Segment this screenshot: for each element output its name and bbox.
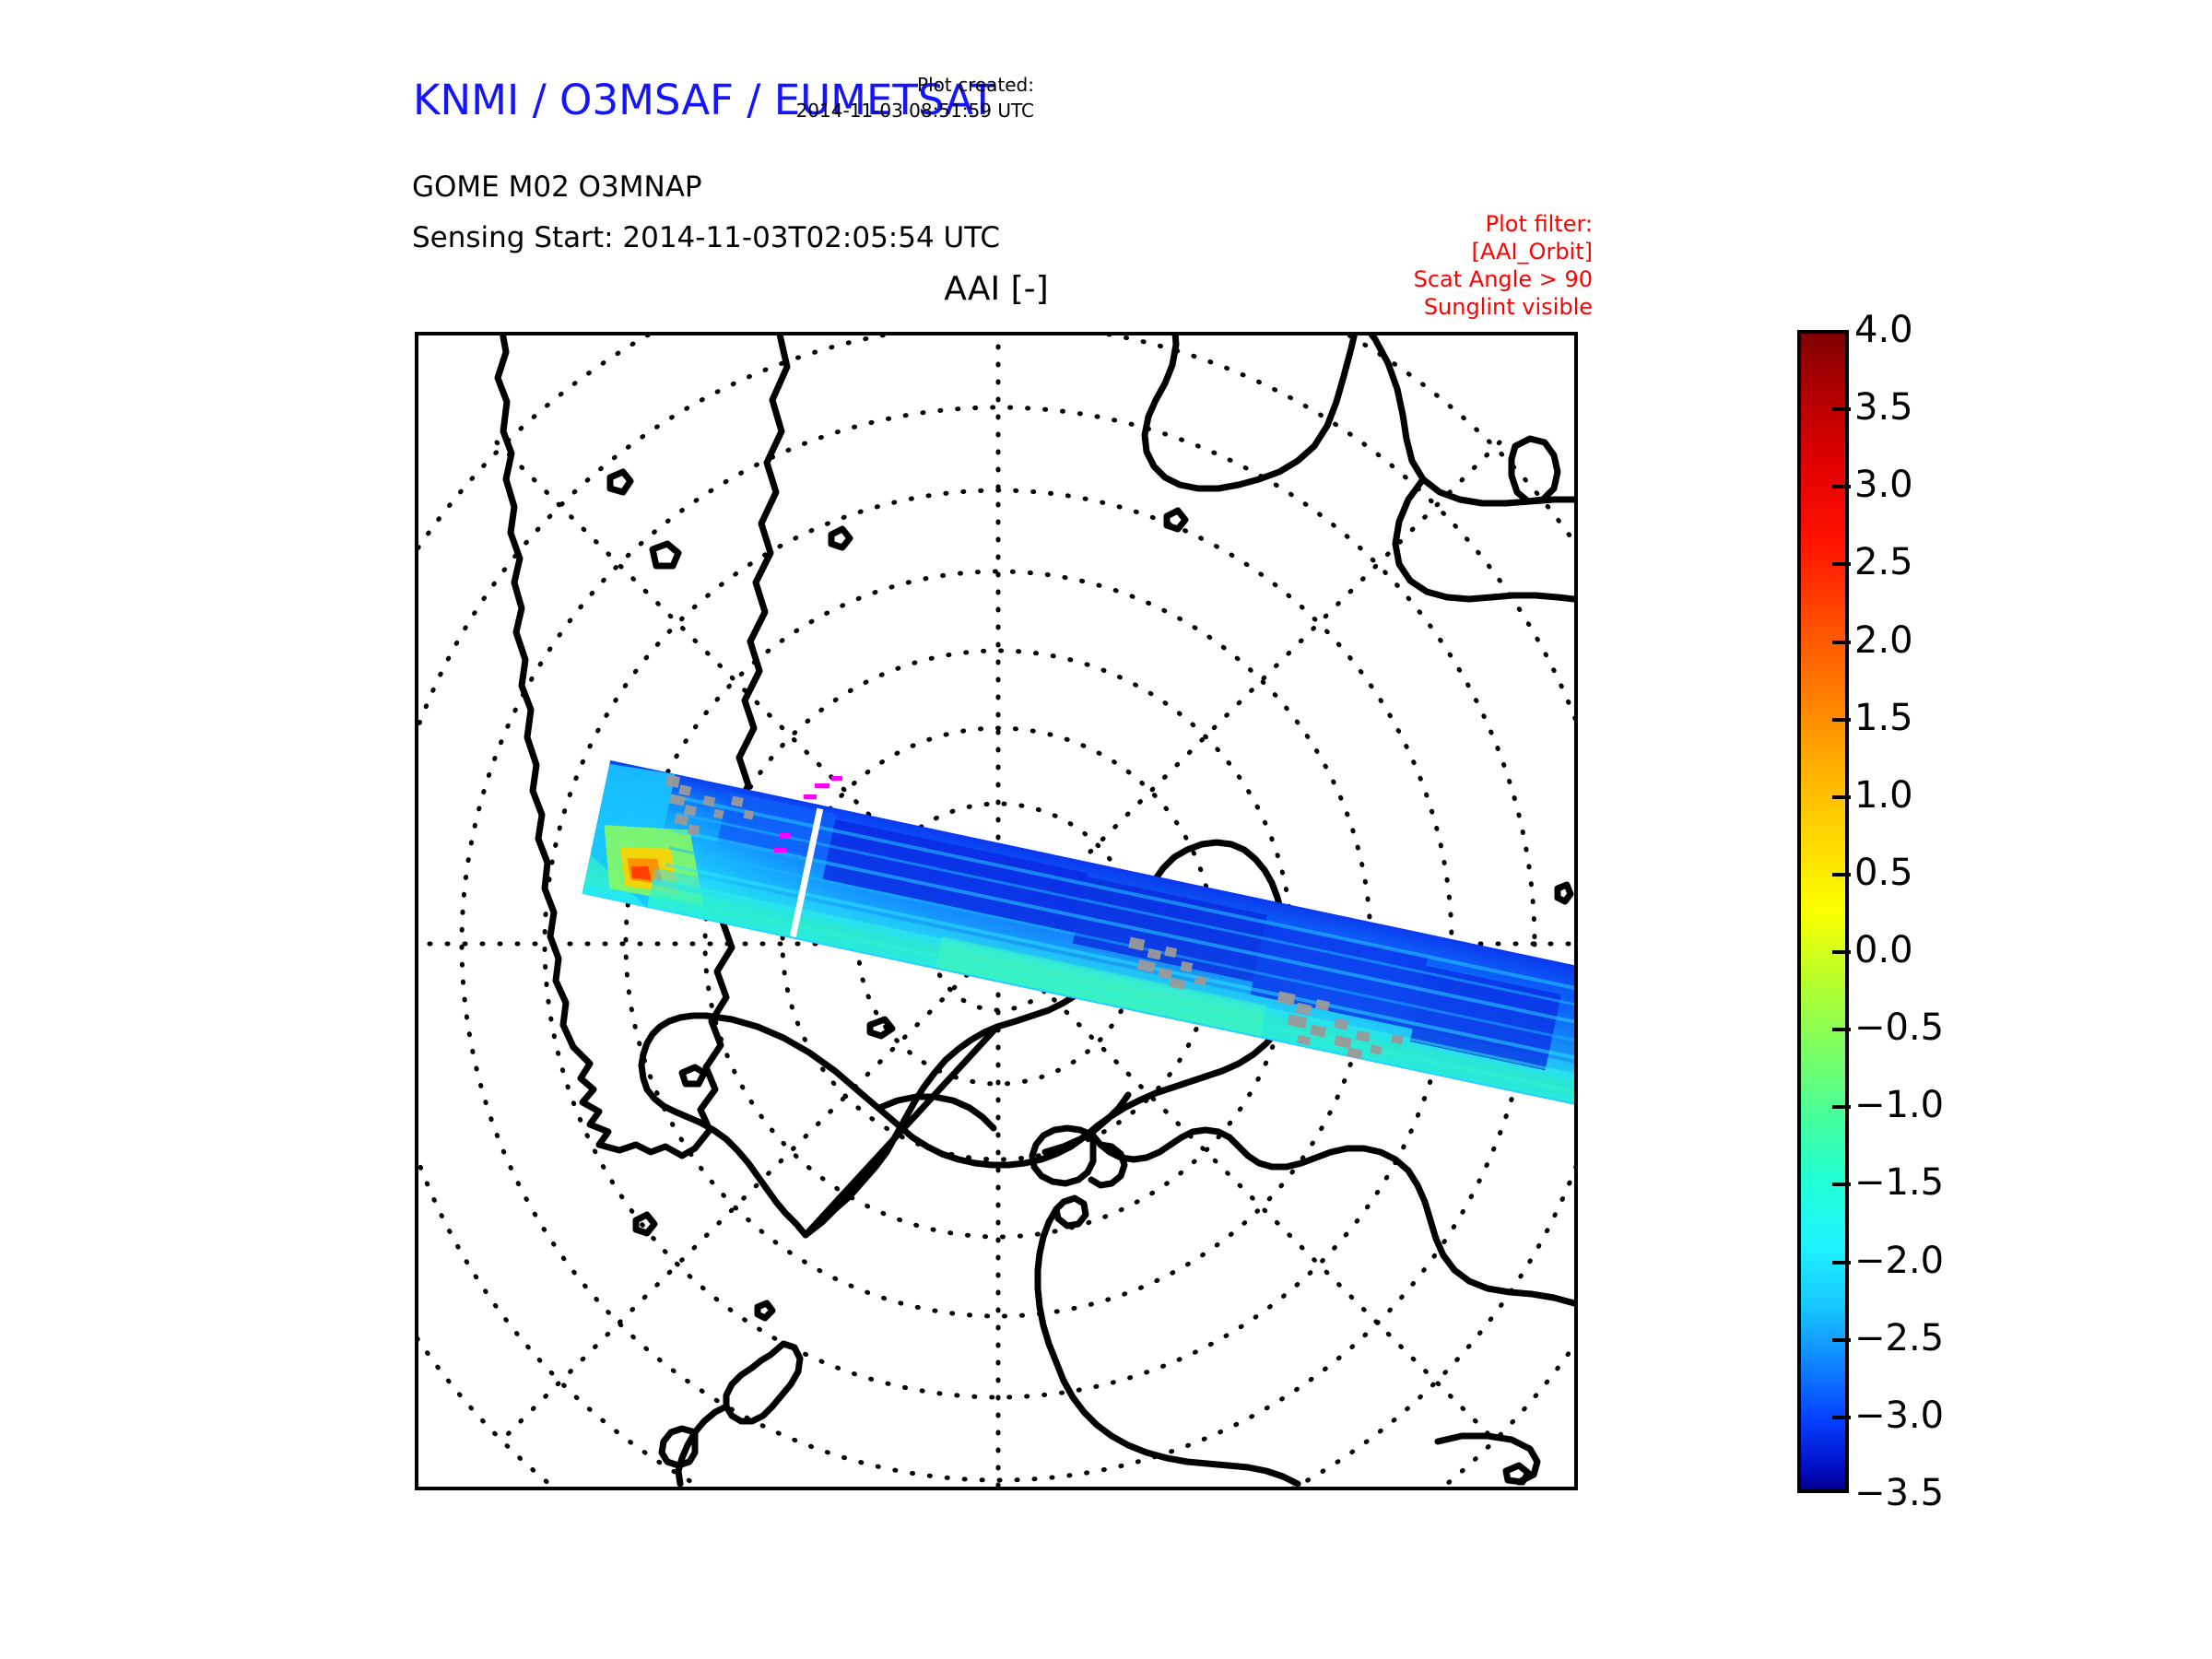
map-plot-area	[415, 332, 1578, 1490]
colorbar-tick-mark	[1832, 1105, 1851, 1109]
plot-created-value: 2014-11-03 08:51:59 UTC	[796, 98, 1034, 124]
colorbar-tick-label: 1.0	[1854, 777, 1913, 814]
instrument-line: GOME M02 O3MNAP	[412, 171, 702, 204]
colorbar-tick-mark	[1832, 950, 1851, 954]
colorbar-tick-label: −0.5	[1854, 1009, 1944, 1046]
colorbar-tick-mark	[1832, 1182, 1851, 1186]
plot-page: KNMI / O3MSAF / EUMETSAT Plot created: 2…	[0, 0, 2212, 1659]
colorbar-tick-label: −3.0	[1854, 1397, 1944, 1434]
colorbar-tick-label: −1.5	[1854, 1164, 1944, 1201]
colorbar-tick-label: 0.0	[1854, 932, 1913, 969]
colorbar-tick-mark	[1832, 1416, 1851, 1419]
map-canvas	[418, 335, 1574, 1487]
colorbar-gradient	[1797, 330, 1849, 1493]
colorbar-tick-label: −2.5	[1854, 1320, 1944, 1357]
plot-created-block: Plot created: 2014-11-03 08:51:59 UTC	[796, 72, 1034, 124]
map-title: AAI [-]	[415, 270, 1578, 308]
plot-filter-label: Plot filter:	[1335, 210, 1593, 238]
colorbar-tick-mark	[1832, 407, 1851, 411]
colorbar-tick-label: 1.5	[1854, 700, 1913, 736]
colorbar-tick-label: 3.5	[1854, 389, 1913, 426]
colorbar-tick-mark	[1832, 562, 1851, 566]
colorbar-tick-mark	[1832, 795, 1851, 799]
colorbar-tick-mark	[1832, 1028, 1851, 1031]
colorbar-tick-label: 2.0	[1854, 622, 1913, 659]
sensing-start-line: Sensing Start: 2014-11-03T02:05:54 UTC	[412, 221, 1000, 254]
colorbar-tick-label: 4.0	[1854, 312, 1913, 348]
colorbar-tick-mark	[1832, 1261, 1851, 1265]
colorbar-tick-label: 0.5	[1854, 854, 1913, 891]
colorbar-tick-label: 2.5	[1854, 544, 1913, 581]
colorbar-tick-mark	[1832, 718, 1851, 722]
colorbar-tick-mark	[1832, 485, 1851, 488]
plot-created-label: Plot created:	[796, 72, 1034, 98]
colorbar-tick-label: 3.0	[1854, 466, 1913, 503]
colorbar-tick-mark	[1832, 873, 1851, 877]
colorbar-tick-label: −2.0	[1854, 1242, 1944, 1279]
colorbar-tick-mark	[1832, 1338, 1851, 1342]
colorbar: 4.03.53.02.52.01.51.00.50.0−0.5−1.0−1.5−…	[1797, 330, 1849, 1493]
plot-filter-orbit: [AAI_Orbit]	[1335, 238, 1593, 265]
colorbar-tick-label: −1.0	[1854, 1087, 1944, 1124]
colorbar-tick-mark	[1832, 641, 1851, 644]
map-clip	[418, 335, 1574, 1487]
colorbar-tick-label: −3.5	[1854, 1475, 1944, 1512]
